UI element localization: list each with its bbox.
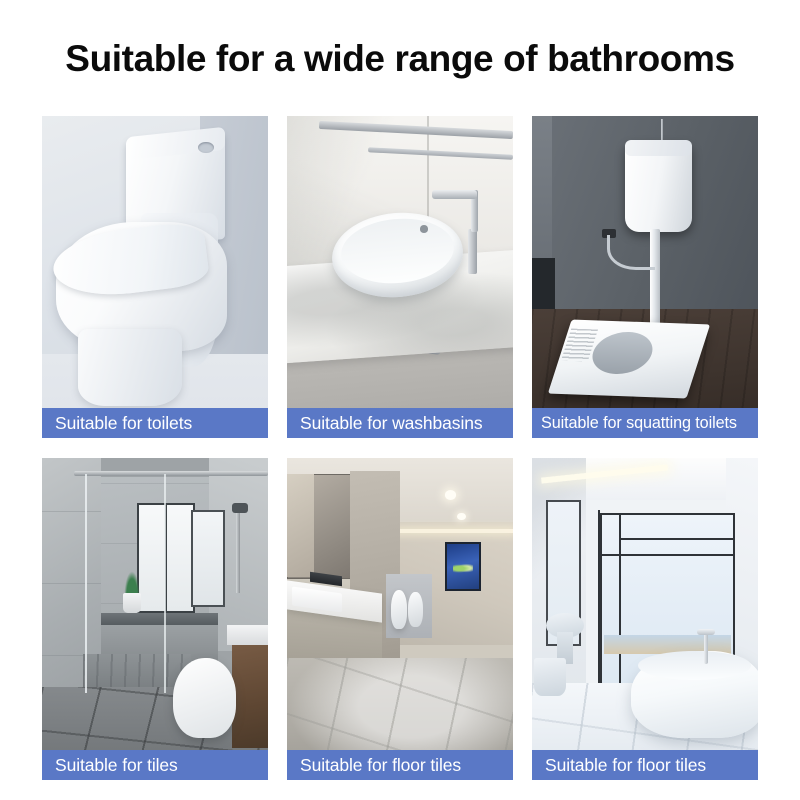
gallery-tile-floor-tiles-bathtub[interactable]: Suitable for floor tiles <box>532 458 758 780</box>
photo-squatting-toilet <box>532 116 758 438</box>
plant-foliage <box>123 567 141 596</box>
gallery-tile-tiles[interactable]: Suitable for tiles <box>42 458 268 780</box>
shower-head <box>232 503 248 513</box>
photo-public-restroom <box>287 458 513 780</box>
window-ledge <box>101 613 219 626</box>
tile-caption: Suitable for floor tiles <box>287 750 513 780</box>
cove-light <box>395 529 513 534</box>
shower-riser-bar <box>236 510 240 594</box>
toilet <box>534 658 566 697</box>
faucet-spout <box>432 190 477 199</box>
gallery-tile-floor-tiles-restroom[interactable]: Suitable for floor tiles <box>287 458 513 780</box>
window-mullion-horizontal <box>602 554 733 557</box>
page-title: Suitable for a wide range of bathrooms <box>0 38 800 80</box>
gallery-tile-washbasins[interactable]: Suitable for washbasins <box>287 116 513 438</box>
application-gallery-grid: Suitable for toilets Suitable for wash <box>42 116 758 780</box>
side-wall <box>532 116 552 267</box>
cistern-lid <box>625 140 693 156</box>
downlight-icon-secondary <box>457 513 466 521</box>
shower-door-rail <box>74 471 268 476</box>
toilet-pedestal <box>78 329 182 406</box>
product-feature-page: Suitable for a wide range of bathrooms S… <box>0 0 800 800</box>
gallery-tile-toilets[interactable]: Suitable for toilets <box>42 116 268 438</box>
plant-pot <box>123 593 141 612</box>
window-frame-divider <box>598 510 601 697</box>
window-mullion-vertical <box>619 515 622 692</box>
vanity-countertop <box>227 625 268 644</box>
tile-caption: Suitable for squatting toilets <box>532 408 758 438</box>
urinal-secondary <box>408 592 423 627</box>
photo-washbasin <box>287 116 513 438</box>
photo-toilet <box>42 116 268 438</box>
mirror-reflection <box>287 474 314 577</box>
window-secondary <box>191 510 224 607</box>
tile-caption: Suitable for floor tiles <box>532 750 758 780</box>
wood-vanity <box>232 638 268 747</box>
bathtub-interior <box>638 651 751 680</box>
glass-panel-edge <box>85 474 87 693</box>
tile-caption: Suitable for toilets <box>42 408 268 438</box>
glass-panel-edge-secondary <box>164 474 166 693</box>
skirting-board <box>532 258 555 313</box>
wall-artwork <box>445 542 481 591</box>
faucet-base <box>468 229 477 274</box>
urinal <box>391 590 407 629</box>
window <box>137 503 195 613</box>
photo-white-bathroom <box>532 458 758 780</box>
flush-button-icon <box>198 142 214 153</box>
gallery-tile-squatting-toilets[interactable]: Suitable for squatting toilets <box>532 116 758 438</box>
bath-tap-spout <box>697 629 715 635</box>
toilet <box>173 658 236 739</box>
tile-caption: Suitable for washbasins <box>287 408 513 438</box>
window-mullion-horizontal-secondary <box>619 538 733 540</box>
tile-caption: Suitable for tiles <box>42 750 268 780</box>
drain-icon <box>420 225 428 232</box>
photo-tiled-bathroom <box>42 458 268 780</box>
